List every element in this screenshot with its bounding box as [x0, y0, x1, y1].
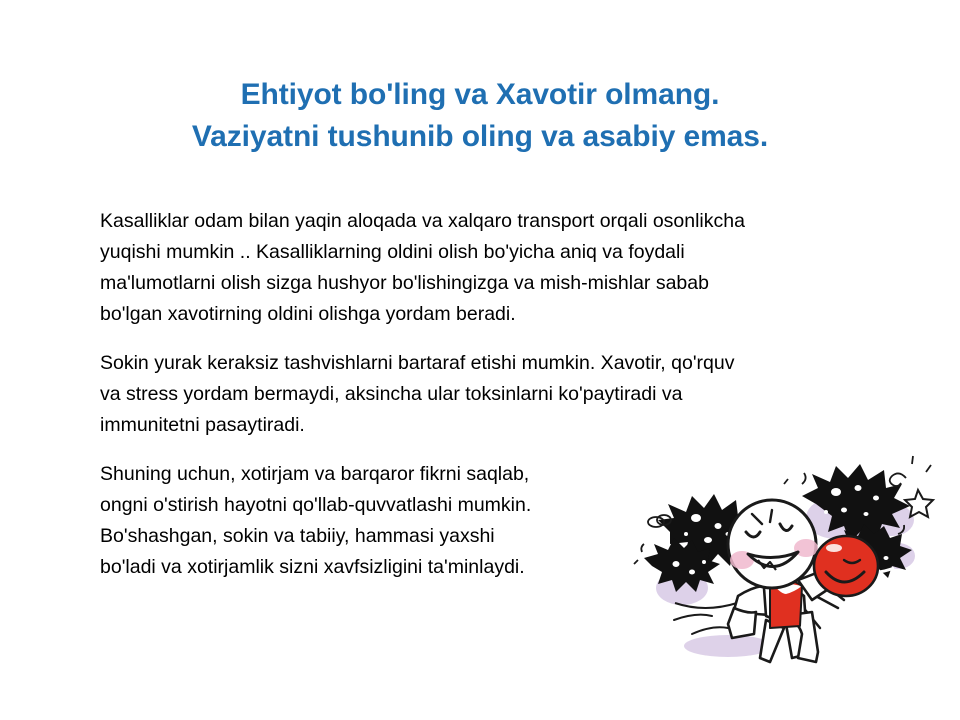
paragraph-2: Sokin yurak keraksiz tashvishlarni barta…: [100, 348, 912, 441]
paragraph-1: Kasalliklar odam bilan yaqin aloqada va …: [100, 206, 912, 330]
paragraph-1-line-1: Kasalliklar odam bilan yaqin aloqada va …: [100, 206, 912, 237]
paragraph-1-line-4: bo'lgan xavotirning oldini olishga yorda…: [100, 299, 912, 330]
paragraph-1-line-3: ma'lumotlarni olish sizga hushyor bo'lis…: [100, 268, 912, 299]
title-line-2: Vaziyatni tushunib oling va asabiy emas.: [0, 116, 960, 158]
paragraph-1-line-2: yuqishi mumkin .. Kasalliklarning oldini…: [100, 237, 912, 268]
page-title: Ehtiyot bo'ling va Xavotir olmang. Vaziy…: [0, 74, 960, 158]
paragraph-2-line-3: immunitetni pasaytiradi.: [100, 410, 912, 441]
boxing-glove: [814, 536, 878, 596]
paragraph-2-line-2: va stress yordam bermaydi, aksincha ular…: [100, 379, 912, 410]
swirl-spark: [890, 456, 931, 486]
cartoon-boxer-illustration: [630, 448, 960, 683]
motion-lines-left: [674, 615, 728, 634]
figure-face: [728, 500, 818, 588]
title-line-1: Ehtiyot bo'ling va Xavotir olmang.: [0, 74, 960, 116]
slide-canvas: Ehtiyot bo'ling va Xavotir olmang. Vaziy…: [0, 0, 960, 720]
paragraph-2-line-1: Sokin yurak keraksiz tashvishlarni barta…: [100, 348, 912, 379]
